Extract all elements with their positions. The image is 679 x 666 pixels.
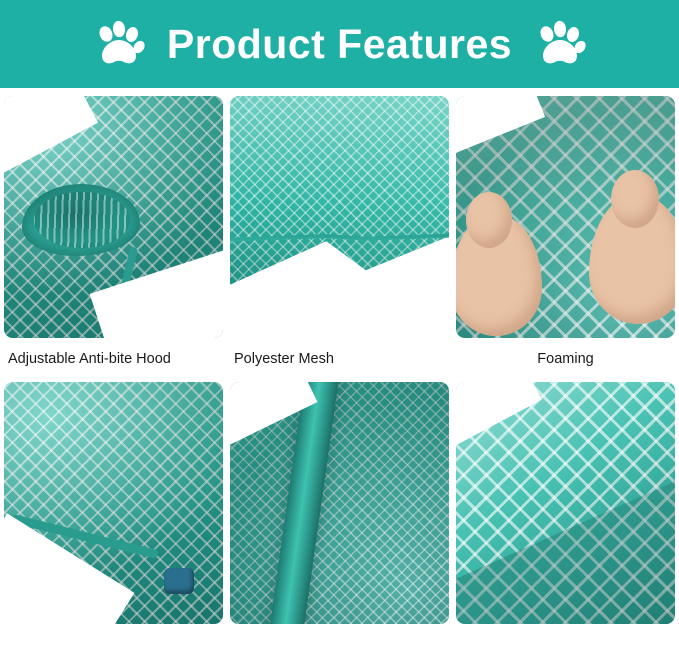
feature-photo-weave-closeup [456, 382, 675, 624]
cord-toggle [164, 568, 194, 594]
thumb-right [611, 170, 659, 228]
header-banner: Product Features [0, 0, 679, 88]
feature-caption [4, 624, 223, 666]
feature-photo-hood [4, 96, 223, 338]
product-features-page: Product Features [0, 0, 679, 653]
feature-cell-hood: Adjustable Anti-bite Hood [4, 96, 223, 380]
page-title: Product Features [167, 24, 512, 65]
feature-cell-weave-closeup [456, 382, 675, 666]
feature-cell-drawstring-bag [4, 382, 223, 666]
feature-cell-mesh: Polyester Mesh [230, 96, 449, 380]
feature-cell-foaming: Foaming [456, 96, 675, 380]
gathered-ruffle [34, 192, 130, 248]
photo-shading [230, 96, 449, 338]
feature-photo-drawstring-bag [4, 382, 223, 624]
feature-photo-mesh [230, 96, 449, 338]
feature-photo-foaming [456, 96, 675, 338]
feature-row-1: Adjustable Anti-bite Hood Polyester Mesh [6, 96, 673, 380]
paw-print-icon [534, 18, 586, 70]
paw-print-icon [93, 18, 145, 70]
feature-row-2 [6, 382, 673, 666]
feature-photo-seam [230, 382, 449, 624]
feature-cell-seam [230, 382, 449, 666]
thumb-left [466, 192, 512, 248]
feature-caption: Adjustable Anti-bite Hood [4, 338, 223, 380]
feature-caption: Polyester Mesh [230, 338, 449, 380]
feature-caption [456, 624, 675, 666]
feature-caption [230, 624, 449, 666]
feature-caption: Foaming [456, 338, 675, 380]
feature-grid: Adjustable Anti-bite Hood Polyester Mesh [0, 88, 679, 666]
